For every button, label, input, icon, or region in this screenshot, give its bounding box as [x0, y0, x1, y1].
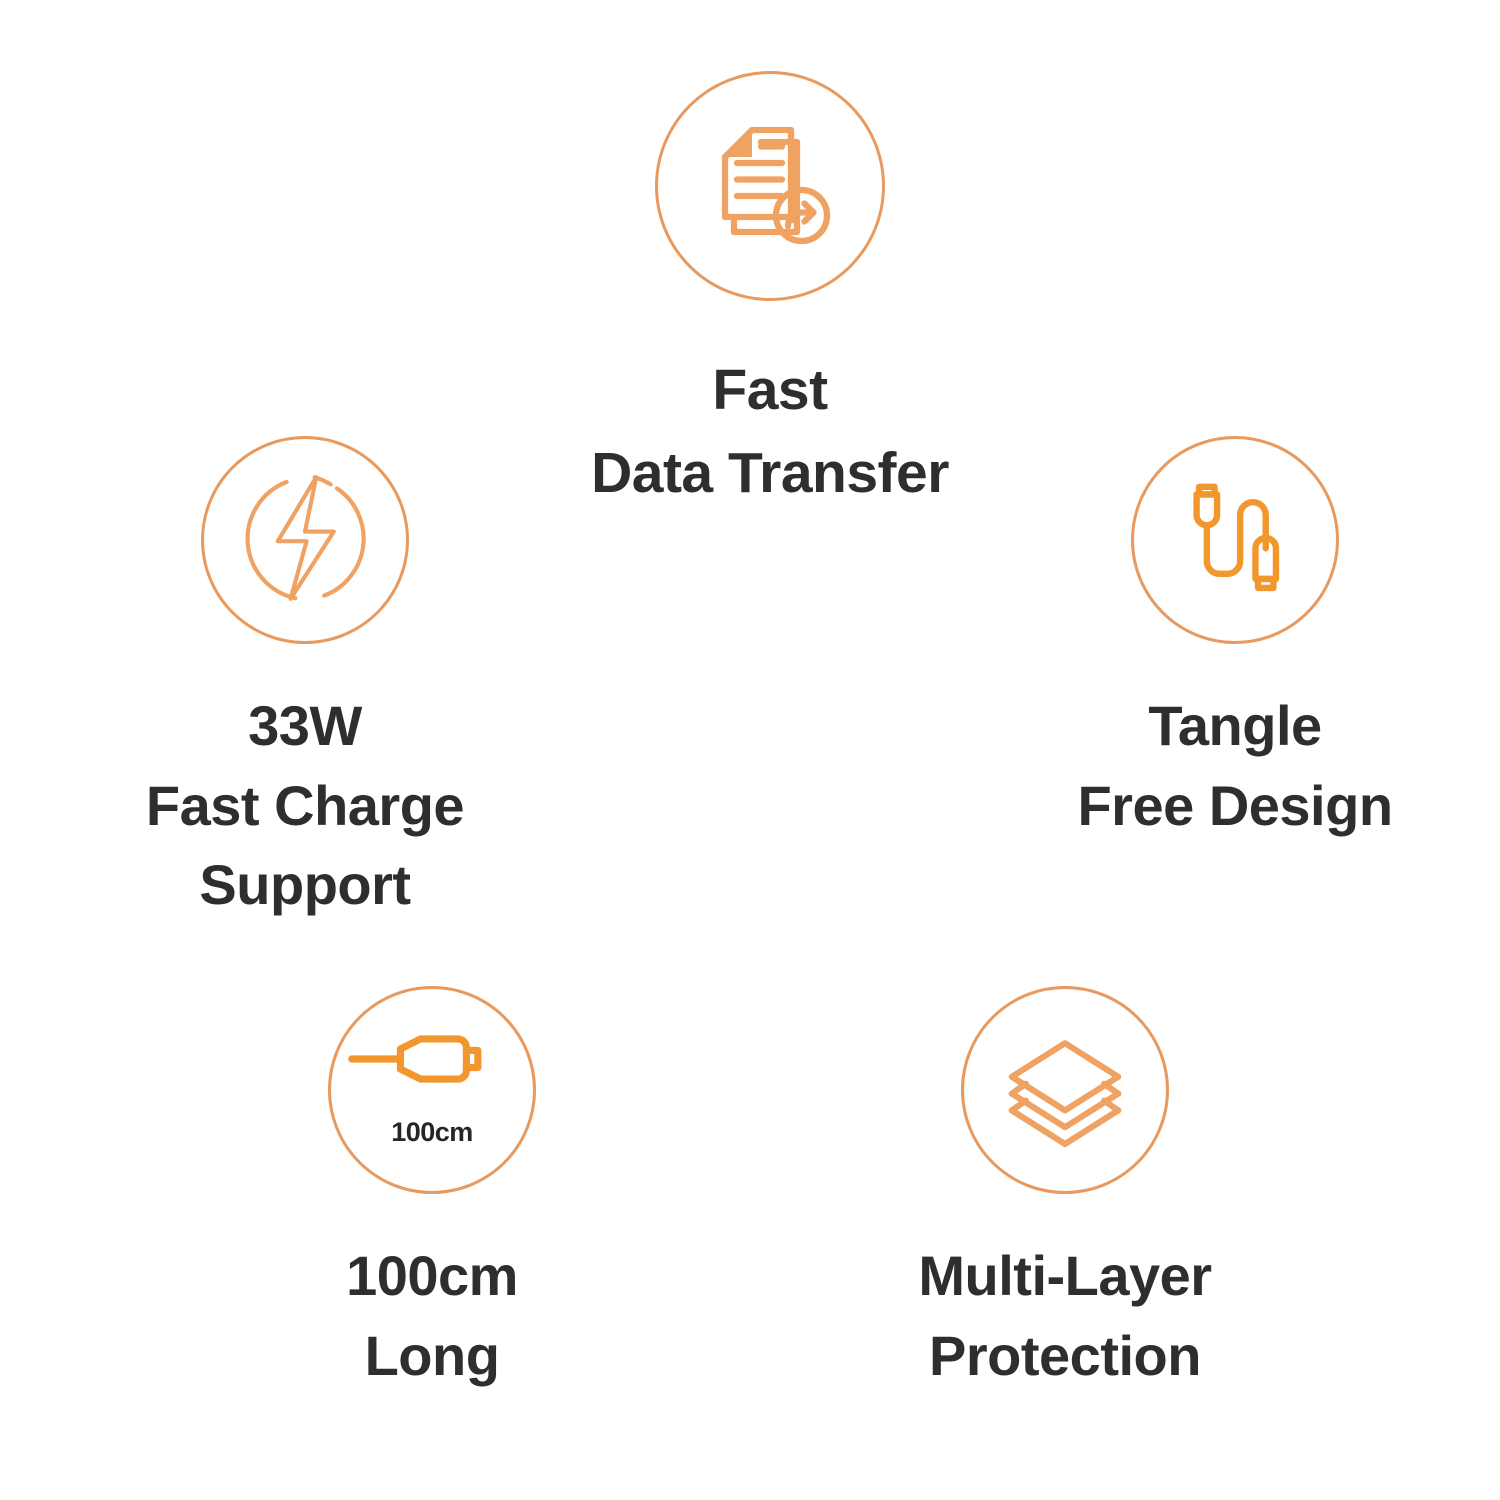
layers-stack-icon	[995, 1018, 1135, 1163]
usb-cable-icon	[1171, 474, 1299, 607]
documents-transfer-icon	[695, 109, 845, 264]
feature-label-cable-length: 100cm Long	[346, 1236, 518, 1395]
feature-tangle-free: Tangle Free Design	[965, 436, 1500, 845]
feature-label-protection: Multi-Layer Protection	[918, 1236, 1211, 1395]
feature-cable-length: 100cm 100cm Long	[212, 986, 652, 1395]
icon-circle-fast-charge	[201, 436, 409, 644]
feature-label-fast-charge: 33W Fast Charge Support	[146, 686, 464, 925]
lightning-bolt-icon	[225, 458, 385, 623]
icon-circle-protection	[961, 986, 1169, 1194]
icon-circle-cable-length: 100cm	[328, 986, 536, 1194]
icon-circle-tangle-free	[1131, 436, 1339, 644]
cable-length-badge: 100cm	[331, 1117, 533, 1148]
feature-multi-layer-protection: Multi-Layer Protection	[820, 986, 1310, 1395]
icon-circle-data-transfer	[655, 71, 885, 301]
feature-label-data-transfer: Fast Data Transfer	[591, 349, 949, 514]
product-feature-infographic: Fast Data Transfer 33W Fast Charge Suppo…	[0, 0, 1500, 1500]
feature-fast-charge: 33W Fast Charge Support	[40, 436, 570, 925]
feature-label-tangle-free: Tangle Free Design	[1077, 686, 1392, 845]
cable-length-icon	[331, 1027, 533, 1091]
